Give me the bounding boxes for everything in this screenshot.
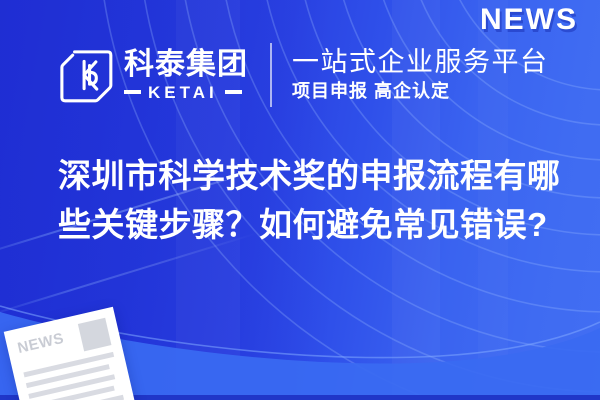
headline-line-2: 些关键步骤？如何避免常见错误? (58, 201, 558, 250)
brand-name-en-row: KETAI (124, 84, 248, 101)
brand-name-cn: 科泰集团 (124, 49, 248, 81)
headline-line-1: 深圳市科学技术奖的申报流程有哪 (58, 152, 558, 201)
header-divider (270, 43, 272, 107)
tagline-block: 一站式企业服务平台 项目申报 高企认定 (292, 47, 549, 103)
news-badge: NEWS (480, 5, 578, 35)
image-placeholder-icon (78, 318, 112, 352)
tagline-main: 一站式企业服务平台 (292, 47, 549, 77)
brand-header: 科泰集团 KETAI 一站式企业服务平台 项目申报 高企认定 (56, 38, 549, 112)
ketai-kt-monogram-icon (56, 46, 114, 104)
logo-dash-right (225, 90, 242, 94)
logo-dash-left (124, 90, 141, 94)
tagline-sub: 项目申报 高企认定 (292, 81, 549, 103)
headline: 深圳市科学技术奖的申报流程有哪 些关键步骤？如何避免常见错误? (58, 152, 558, 249)
brand-name-en: KETAI (141, 84, 225, 101)
brand-logo[interactable]: 科泰集团 KETAI (56, 46, 248, 104)
newspaper-card-title: NEWS (16, 331, 65, 356)
news-banner: NEWS 科泰集团 KETAI (0, 0, 600, 400)
